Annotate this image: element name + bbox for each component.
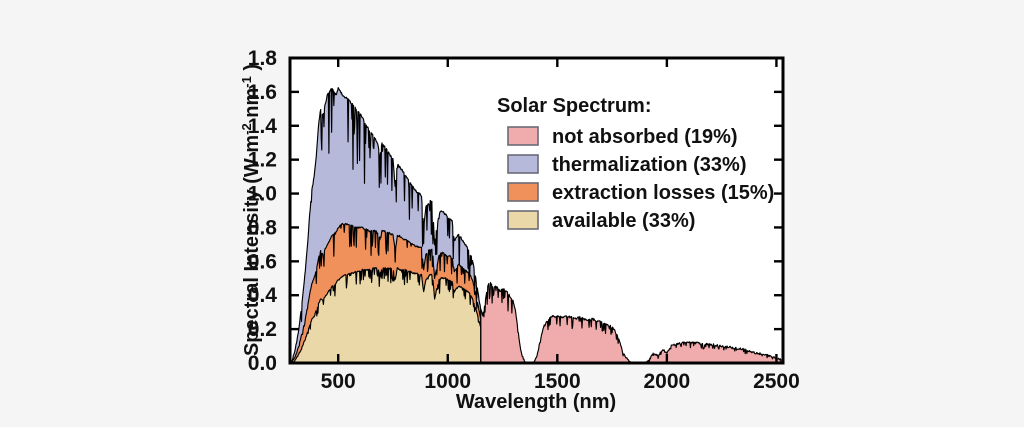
svg-text:Spectral Intensity (W m-2 nm-1: Spectral Intensity (W m-2 nm-1 ) (239, 64, 263, 356)
legend-swatch (508, 155, 538, 173)
figure-root: 5001000150020002500 0.00.20.40.60.81.01.… (0, 0, 1024, 427)
legend-label: thermalization (33%) (552, 154, 746, 176)
y-axis-title-sup1: -2 (239, 123, 254, 135)
y-axis-title-close: ) (241, 64, 263, 76)
legend-title: Solar Spectrum: (497, 95, 651, 117)
x-tick-label: 2500 (753, 370, 800, 393)
x-tick-label: 500 (321, 370, 356, 393)
legend-swatch (508, 183, 538, 201)
legend-swatch (508, 127, 538, 145)
x-tick-label: 2000 (644, 370, 691, 393)
x-axis-title: Wavelength (nm) (456, 391, 616, 413)
x-tick-label: 1000 (424, 370, 471, 393)
legend-label: not absorbed (19%) (552, 126, 738, 148)
y-axis-title-mid: nm (241, 88, 263, 124)
y-axis-title: Spectral Intensity (W m-2 nm-1 ) (239, 64, 263, 356)
x-tick-label: 1500 (534, 370, 581, 393)
legend-label: extraction losses (15%) (552, 182, 774, 204)
legend-swatch (508, 211, 538, 229)
legend-label: available (33%) (552, 210, 695, 232)
solar-spectrum-chart: 5001000150020002500 0.00.20.40.60.81.01.… (0, 0, 1024, 427)
y-axis-title-main: Spectral Intensity (W m (241, 135, 263, 356)
y-axis-title-sup2: -1 (239, 76, 254, 88)
